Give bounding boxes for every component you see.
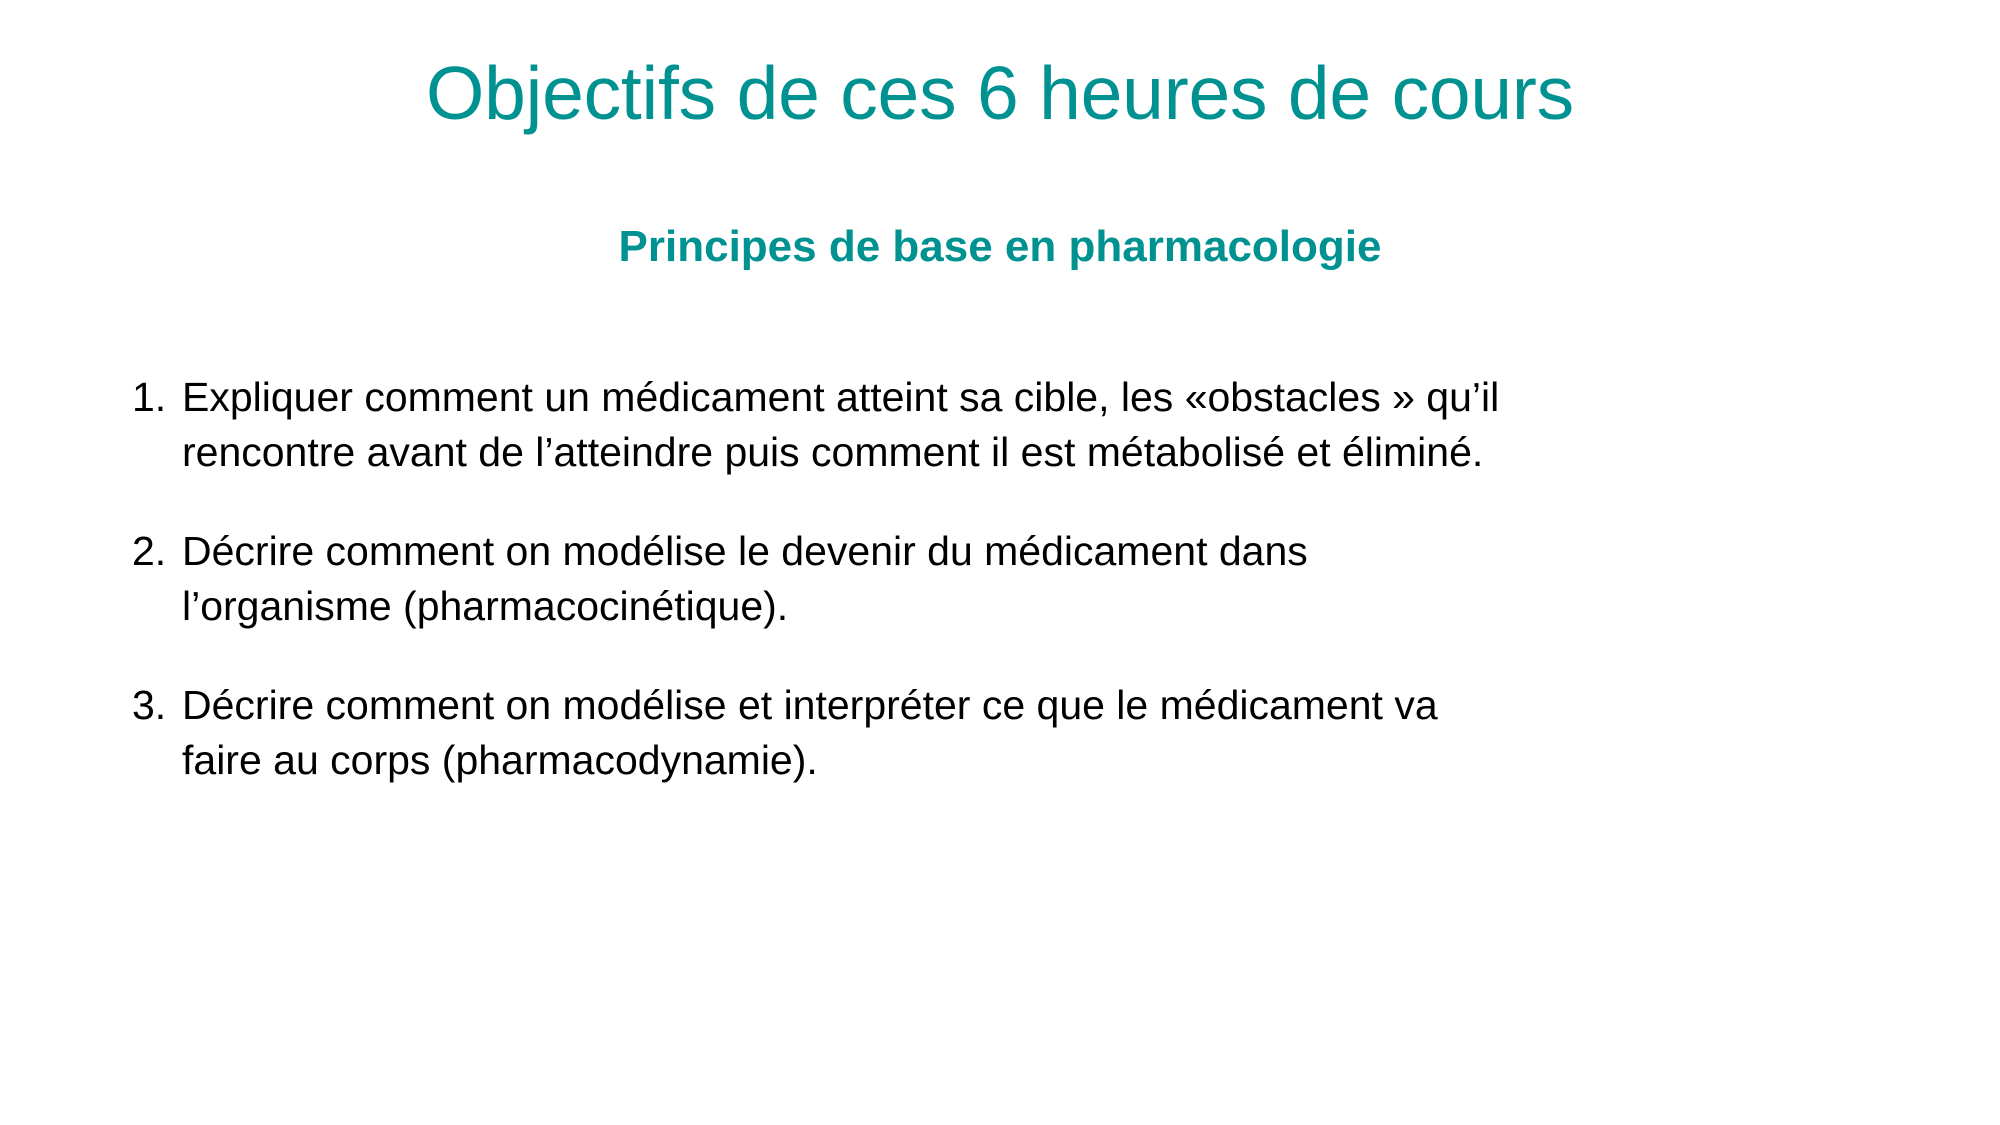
list-item-text: Décrire comment on modélise et interprét…	[182, 678, 1892, 788]
list-item-text: Décrire comment on modélise le devenir d…	[182, 524, 1892, 634]
list-item-line: Décrire comment on modélise le devenir d…	[182, 524, 1892, 579]
list-item-marker: 3.	[132, 678, 182, 733]
list-item-marker: 2.	[132, 524, 182, 579]
list-item-line: Expliquer comment un médicament atteint …	[182, 370, 1892, 425]
list-item: 3. Décrire comment on modélise et interp…	[132, 678, 1892, 788]
page-title: Objectifs de ces 6 heures de cours	[0, 52, 2000, 135]
list-item-text: Expliquer comment un médicament atteint …	[182, 370, 1892, 480]
objectives-list: 1. Expliquer comment un médicament attei…	[132, 370, 1892, 788]
list-item-line: l’organisme (pharmacocinétique).	[182, 579, 1892, 634]
page-subtitle: Principes de base en pharmacologie	[0, 222, 2000, 273]
list-item-line: faire au corps (pharmacodynamie).	[182, 733, 1892, 788]
list-item: 2. Décrire comment on modélise le deveni…	[132, 524, 1892, 634]
list-item-marker: 1.	[132, 370, 182, 425]
list-item: 1. Expliquer comment un médicament attei…	[132, 370, 1892, 480]
slide-canvas: Objectifs de ces 6 heures de cours Princ…	[0, 0, 2000, 1125]
list-item-line: Décrire comment on modélise et interprét…	[182, 678, 1892, 733]
list-item-line: rencontre avant de l’atteindre puis comm…	[182, 425, 1892, 480]
